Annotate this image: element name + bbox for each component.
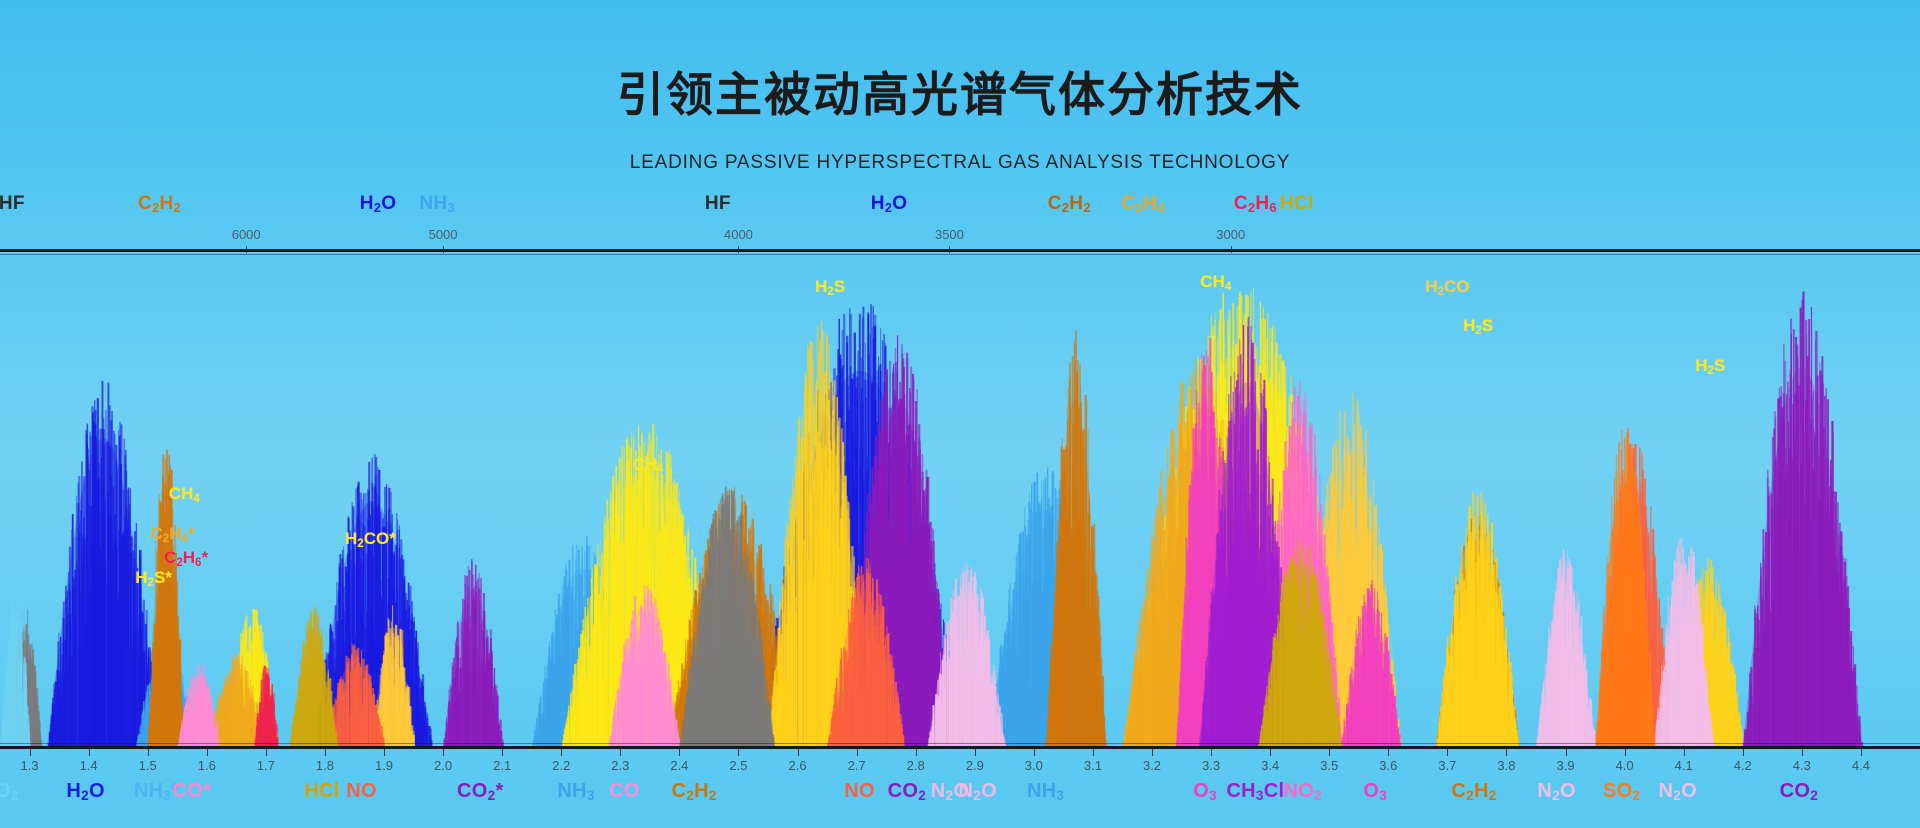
- wavelength-tick-label: 1.7: [257, 758, 275, 773]
- gas-label-bottom-c2h2: C2H2: [672, 780, 717, 803]
- gas-label-bottom-o3: O3: [1193, 780, 1217, 803]
- gas-label-bottom-so2: SO2: [1603, 780, 1640, 803]
- wavelength-tick: [1093, 749, 1094, 756]
- wavelength-tick-label: 3.7: [1438, 758, 1456, 773]
- gas-label-plot-ch4c: CH4: [1200, 272, 1231, 292]
- gas-label-bottom-co2b: CO2: [1780, 780, 1818, 803]
- wavelength-tick: [443, 749, 444, 756]
- gas-label-bottom-co: CO: [609, 780, 640, 803]
- wavelength-tick-label: 3.0: [1025, 758, 1043, 773]
- gas-label-bottom-ch3cl: CH3Cl: [1226, 780, 1284, 803]
- axis-line-bottom: [0, 746, 1920, 749]
- wavenumber-tick-label: 3500: [935, 227, 964, 242]
- wavelength-tick: [266, 749, 267, 756]
- wavelength-tick-label: 4.0: [1616, 758, 1634, 773]
- wavelength-tick: [1447, 749, 1448, 756]
- gas-label-plot-h2co: H2CO: [1425, 277, 1469, 297]
- wavelength-tick-label: 1.6: [198, 758, 216, 773]
- wavelength-tick-label: 2.5: [729, 758, 747, 773]
- wavelength-tick-label: 1.3: [20, 758, 38, 773]
- wavelength-tick: [1034, 749, 1035, 756]
- gas-label-plot-c2h4s: C2H4*: [150, 524, 194, 544]
- wavelength-tick: [1684, 749, 1685, 756]
- wavelength-tick: [975, 749, 976, 756]
- wavelength-tick-label: 1.4: [80, 758, 98, 773]
- wavelength-tick-label: 3.6: [1379, 758, 1397, 773]
- wavelength-tick: [798, 749, 799, 756]
- wavelength-tick: [325, 749, 326, 756]
- wavelength-tick-label: 2.0: [434, 758, 452, 773]
- wavelength-tick: [1506, 749, 1507, 756]
- wavelength-tick: [207, 749, 208, 756]
- spectrum-chart: HFC2H2H2ONH3HFH2OC2H2C2H4C2H6HCl 6000500…: [0, 200, 1920, 828]
- gas-label-plot-h2sc: H2S: [1695, 356, 1725, 376]
- gas-label-plot-ch4: CH4: [169, 484, 200, 504]
- wavelength-tick-label: 4.3: [1793, 758, 1811, 773]
- gas-label-bottom-hcl: HCl: [304, 780, 339, 803]
- gas-label-bottom-no: NO: [346, 780, 377, 803]
- wavelength-tick: [1329, 749, 1330, 756]
- wavelength-tick-label: 3.4: [1261, 758, 1279, 773]
- wavelength-tick: [1211, 749, 1212, 756]
- spectra-canvas: [0, 252, 1920, 746]
- page-subtitle: LEADING PASSIVE HYPERSPECTRAL GAS ANALYS…: [0, 152, 1920, 174]
- wavelength-tick-label: 3.3: [1202, 758, 1220, 773]
- wavelength-tick: [30, 749, 31, 756]
- wavelength-tick-label: 4.1: [1675, 758, 1693, 773]
- gas-label-bottom-n2ob: N2O: [1537, 780, 1575, 803]
- axis-hairline-bottom: [0, 743, 1920, 744]
- gas-label-bottom-no2: NO2: [1283, 780, 1321, 803]
- gas-label-plot-h2cos: H2CO*: [345, 529, 396, 549]
- gas-label-bottom-co2s: CO2*: [457, 780, 504, 803]
- wavelength-tick: [1388, 749, 1389, 756]
- page-title: 引领主被动高光谱气体分析技术: [0, 56, 1920, 125]
- wavelength-tick-label: 3.9: [1556, 758, 1574, 773]
- wavelength-tick-label: 3.5: [1320, 758, 1338, 773]
- wavelength-tick-label: 1.8: [316, 758, 334, 773]
- wavelength-tick: [1625, 749, 1626, 756]
- gas-label-plot-ch4b: CH4: [633, 455, 664, 475]
- wavelength-tick-label: 2.9: [966, 758, 984, 773]
- gas-label-bottom-o3-2: O3: [1363, 780, 1387, 803]
- gas-label-bottom-nh3: NH3: [557, 780, 594, 803]
- wavelength-tick-label: 1.9: [375, 758, 393, 773]
- wavelength-tick-label: 2.4: [670, 758, 688, 773]
- wavelength-tick: [1802, 749, 1803, 756]
- wavelength-tick: [916, 749, 917, 756]
- wavelength-tick-label: 1.5: [139, 758, 157, 773]
- wavelength-tick: [502, 749, 503, 756]
- wavelength-tick: [148, 749, 149, 756]
- plot-area: [0, 252, 1920, 746]
- gas-label-plot-h2ss: H2S*: [135, 568, 172, 588]
- wavelength-tick-label: 2.7: [848, 758, 866, 773]
- gas-label-bottom-n2o-2: N2O: [958, 780, 996, 803]
- wavelength-tick: [89, 749, 90, 756]
- wavenumber-tick-label: 3000: [1216, 227, 1245, 242]
- gas-label-bottom-o2: O2: [0, 780, 19, 803]
- wavelength-tick-label: 3.2: [1143, 758, 1161, 773]
- gas-label-bottom-h2o: H2O: [66, 780, 104, 803]
- wavelength-tick-label: 3.8: [1497, 758, 1515, 773]
- wavelength-tick-label: 2.3: [611, 758, 629, 773]
- wavelength-tick-label: 2.6: [788, 758, 806, 773]
- wavenumber-tick-label: 4000: [724, 227, 753, 242]
- wavelength-tick: [1566, 749, 1567, 756]
- gas-label-bottom-nh3-2: NH3: [1027, 780, 1064, 803]
- wavelength-tick-label: 2.8: [907, 758, 925, 773]
- wavelength-tick-label: 2.2: [552, 758, 570, 773]
- gas-label-bottom-n2oc: N2O: [1659, 780, 1697, 803]
- wavenumber-tick-label: 6000: [232, 227, 261, 242]
- wavenumber-tick-label: 5000: [429, 227, 458, 242]
- gas-label-bottom-c2h2b: C2H2: [1451, 780, 1496, 803]
- wavelength-tick: [1152, 749, 1153, 756]
- gas-label-bottom-no-2: NO: [844, 780, 875, 803]
- gas-label-bottom-cos: CO*: [173, 780, 212, 803]
- wavelength-tick: [738, 749, 739, 756]
- wavelength-tick-label: 4.4: [1852, 758, 1870, 773]
- wavelength-tick: [857, 749, 858, 756]
- gas-label-plot-h2sb: H2S: [1463, 316, 1493, 336]
- wavelength-tick: [1270, 749, 1271, 756]
- wavelength-tick: [1861, 749, 1862, 756]
- wavelength-tick-label: 4.2: [1734, 758, 1752, 773]
- gas-label-bottom-co2: CO2: [888, 780, 926, 803]
- gas-label-plot-c2h6s: C2H6*: [164, 548, 208, 568]
- wavelength-tick: [384, 749, 385, 756]
- wavelength-tick: [679, 749, 680, 756]
- wavelength-tick-label: 3.1: [1084, 758, 1102, 773]
- wavelength-tick-label: 2.1: [493, 758, 511, 773]
- gas-label-plot-h2s: H2S: [815, 277, 845, 297]
- wavelength-tick: [1743, 749, 1744, 756]
- page-header: 引领主被动高光谱气体分析技术 LEADING PASSIVE HYPERSPEC…: [0, 0, 1920, 200]
- wavelength-tick: [620, 749, 621, 756]
- wavelength-tick: [561, 749, 562, 756]
